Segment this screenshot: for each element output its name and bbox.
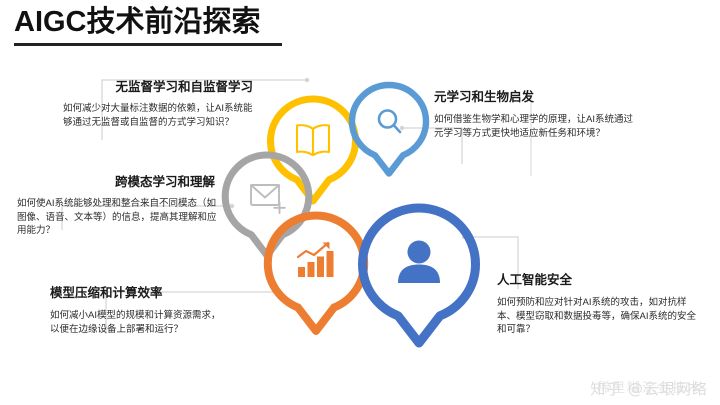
topic-heading-cross-modal: 跨模态学习和理解 [17, 174, 221, 191]
envelope-plus-icon [251, 185, 285, 213]
watermark-secondary: 稀里糊涂金技术 [597, 377, 702, 396]
magnifier-icon [379, 111, 400, 133]
person-icon [398, 241, 440, 284]
pin-meta-learning[interactable] [349, 82, 429, 176]
page-title: AIGC技术前沿探索 [14, 4, 261, 40]
topic-block-cross-modal: 跨模态学习和理解 如何使AI系统能够处理和整合来自不同模态（如图像、语音、文本等… [17, 174, 221, 238]
topic-heading-unsupervised: 无监督学习和自监督学习 [63, 79, 255, 96]
topic-heading-meta-learning: 元学习和生物启发 [434, 89, 638, 106]
topic-heading-ai-security: 人工智能安全 [497, 272, 705, 289]
topic-block-meta-learning: 元学习和生物启发 如何借鉴生物学和心理学的原理，让AI系统通过元学习等方式更快地… [434, 89, 638, 140]
slide-canvas: AIGC技术前沿探索 [0, 0, 720, 405]
pin-shape-orange [268, 216, 364, 332]
topic-body-unsupervised: 如何减少对大量标注数据的依赖，让AI系统能够通过无监督或自监督的方式学习知识？ [63, 102, 253, 129]
topic-heading-model-compression: 模型压缩和计算效率 [38, 285, 236, 302]
topic-block-model-compression: 模型压缩和计算效率 如何减小AI模型的规模和计算资源需求，以便在边缘设备上部署和… [38, 285, 236, 336]
topic-body-model-compression: 如何减小AI模型的规模和计算资源需求，以便在边缘设备上部署和运行？ [38, 309, 224, 336]
topic-body-meta-learning: 如何借鉴生物学和心理学的原理，让AI系统通过元学习等方式更快地适应新任务和环境？ [434, 113, 634, 140]
open-book-icon [297, 125, 329, 155]
topic-body-cross-modal: 如何使AI系统能够处理和整合来自不同模态（如图像、语音、文本等）的信息，提高其理… [17, 197, 219, 238]
bar-chart-growth-icon [298, 243, 334, 278]
pin-model-compression[interactable] [264, 212, 368, 334]
title-underline [14, 43, 282, 46]
pin-shape-lightblue [352, 85, 426, 174]
topic-block-ai-security: 人工智能安全 如何预防和应对针对AI系统的攻击，如对抗样本、模型窃取和数据投毒等… [497, 272, 705, 337]
topic-body-ai-security: 如何预防和应对针对AI系统的攻击，如对抗样本、模型窃取和数据投毒等，确保AI系统… [497, 296, 701, 337]
topic-block-unsupervised: 无监督学习和自监督学习 如何减少对大量标注数据的依赖，让AI系统能够通过无监督或… [63, 79, 255, 129]
pin-ai-security[interactable] [358, 204, 480, 347]
